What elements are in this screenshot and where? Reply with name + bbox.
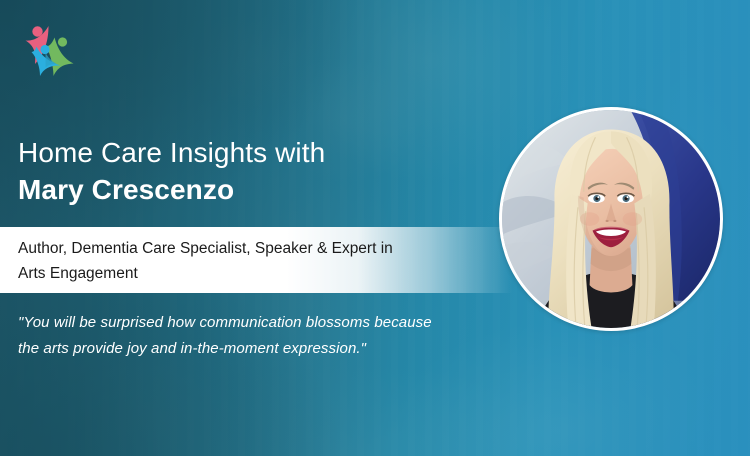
pull-quote: "You will be surprised how communication… xyxy=(18,310,508,362)
avatar xyxy=(499,107,723,331)
page-title-line1: Home Care Insights with xyxy=(18,134,478,171)
home-care-insights-banner: Home Care Insights with Mary Crescenzo A… xyxy=(0,0,750,456)
pull-quote-line2: the arts provide joy and in-the-moment e… xyxy=(18,336,508,362)
pull-quote-line1: "You will be surprised how communication… xyxy=(18,310,508,336)
subtitle: Author, Dementia Care Specialist, Speake… xyxy=(18,236,488,286)
subtitle-line1: Author, Dementia Care Specialist, Speake… xyxy=(18,236,488,261)
page-title: Home Care Insights with Mary Crescenzo xyxy=(18,134,478,208)
portrait-illustration xyxy=(502,110,720,328)
subtitle-line2: Arts Engagement xyxy=(18,261,488,286)
page-title-line2: Mary Crescenzo xyxy=(18,171,478,208)
three-figures-logo-icon[interactable] xyxy=(18,20,88,78)
